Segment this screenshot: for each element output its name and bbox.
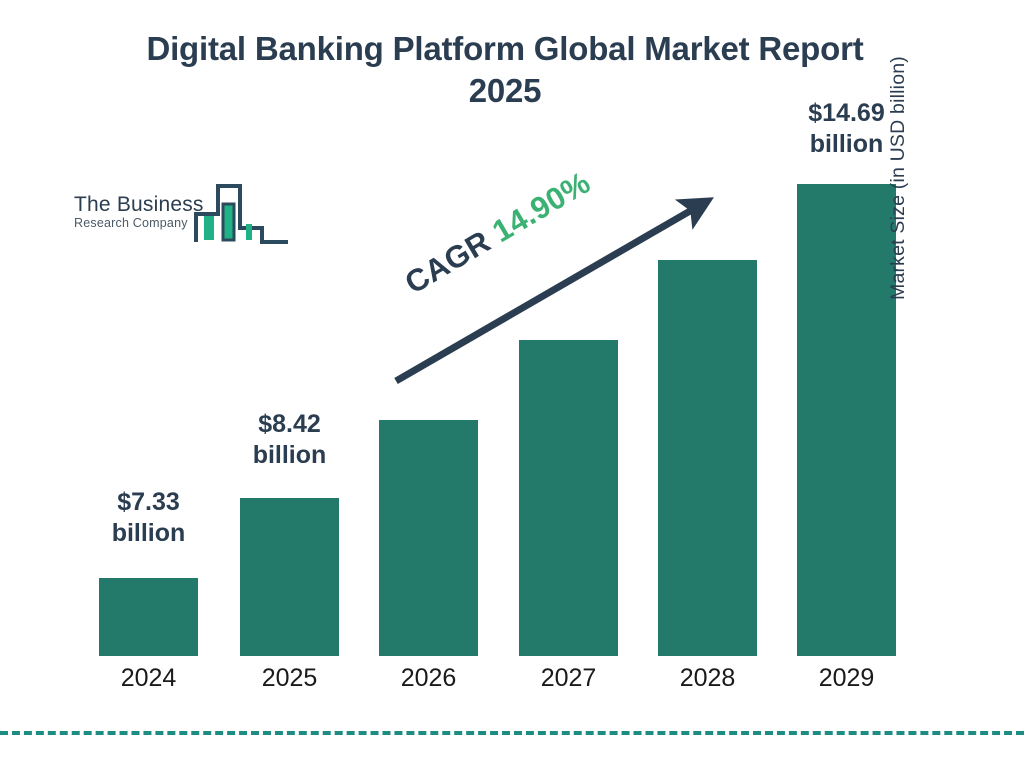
bar-value-label-2024: $7.33 billion bbox=[80, 487, 217, 548]
x-tick-2026: 2026 bbox=[379, 664, 478, 693]
bar-chart-plot: $7.33 billion $8.42 billion $14.69 billi… bbox=[0, 0, 1024, 768]
x-tick-2025: 2025 bbox=[240, 664, 339, 693]
x-tick-2024: 2024 bbox=[99, 664, 198, 693]
bar-2026[interactable] bbox=[379, 420, 478, 656]
bar-value-label-2025: $8.42 billion bbox=[221, 409, 358, 470]
y-axis-title: Market Size (in USD billion) bbox=[887, 0, 910, 300]
bar-2029[interactable] bbox=[797, 184, 896, 656]
footer-divider bbox=[0, 731, 1024, 735]
bar-2024[interactable] bbox=[99, 578, 198, 656]
bar-2028[interactable] bbox=[658, 260, 757, 656]
x-tick-2027: 2027 bbox=[519, 664, 618, 693]
bar-2027[interactable] bbox=[519, 340, 618, 656]
chart-page: Digital Banking Platform Global Market R… bbox=[0, 0, 1024, 768]
bar-2025[interactable] bbox=[240, 498, 339, 656]
x-tick-2029: 2029 bbox=[797, 664, 896, 693]
x-tick-2028: 2028 bbox=[658, 664, 757, 693]
